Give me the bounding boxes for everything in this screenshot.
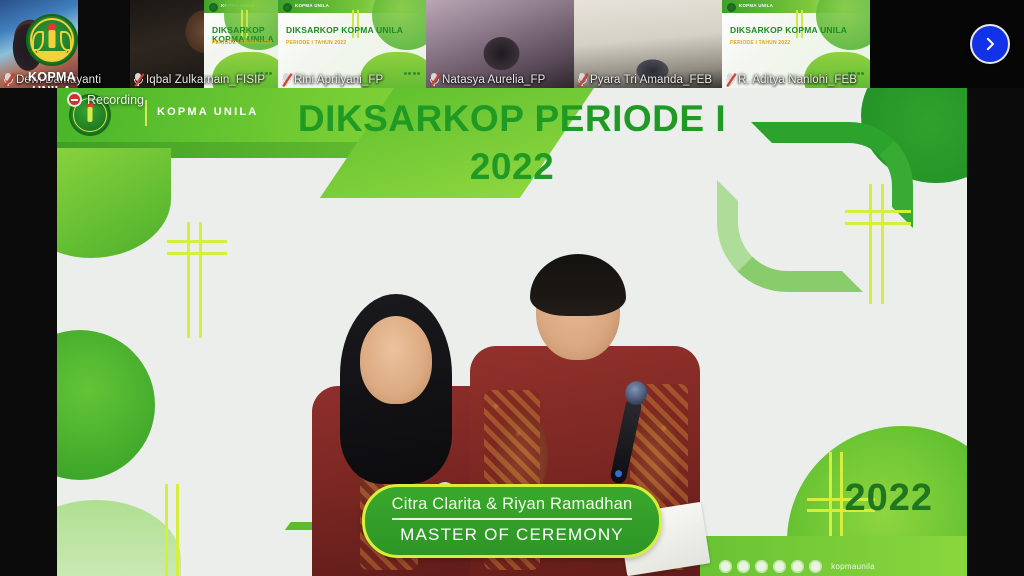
participant-name-label-1: Iqbal Zulkarnain_FISIP: [146, 74, 265, 86]
slide-headline-line-1: DIKSARKOP PERIODE I: [57, 96, 967, 142]
mic-muted-icon: [133, 73, 143, 86]
slide-year-mark: 2022: [844, 477, 933, 520]
mic-muted-icon: [281, 73, 291, 86]
mc-names-label: Citra Clarita & Riyan Ramadhan: [392, 495, 633, 520]
shared-screen-stage: KOPMA UNILA DIKSARKOP PERIODE I 2: [0, 88, 1024, 576]
email-icon: [809, 560, 822, 573]
recording-indicator[interactable]: Recording: [67, 92, 144, 107]
participant-thumbnail-strip: KOPMA UNILA Dewi Damayanti KOPMA UNILA D…: [0, 0, 1024, 88]
mic-muted-icon: [577, 73, 587, 86]
participant-name-label-2: Rini Aprilyani_FP: [294, 74, 383, 86]
mic-muted-icon: [3, 73, 13, 86]
decor-grid-left-top: [167, 222, 227, 338]
youtube-icon: [773, 560, 786, 573]
participant-tile-4[interactable]: Pyara Tri Amanda_FEB: [574, 0, 722, 88]
kopma-unila-seal-icon: [26, 14, 78, 66]
kopma-unila-branding: KOPMA UNILA: [16, 14, 88, 88]
slide-headline: DIKSARKOP PERIODE I 2022: [57, 96, 967, 192]
mc-name-banner: Citra Clarita & Riyan Ramadhan MASTER OF…: [362, 484, 662, 558]
instagram-icon: [737, 560, 750, 573]
participant-name-2: Rini Aprilyani_FP: [278, 73, 387, 86]
shared-presentation-slide[interactable]: KOPMA UNILA DIKSARKOP PERIODE I 2: [57, 88, 967, 576]
kopma-unila-label: KOPMA UNILA: [16, 70, 88, 88]
chevron-right-icon: [981, 35, 999, 53]
next-participants-page-button[interactable]: [970, 24, 1010, 64]
participant-name-label-5: R. Aditya Nanlohi_FEB: [738, 74, 857, 86]
slide-headline-line-2: 2022: [57, 142, 967, 192]
participant-name-4: Pyara Tri Amanda_FEB: [574, 73, 716, 86]
participant-tile-5[interactable]: KOPMA UNILA DIKSARKOP KOPMA UNILA PERIOD…: [722, 0, 870, 88]
participant-tile-0[interactable]: KOPMA UNILA Dewi Damayanti: [0, 0, 130, 88]
twitter-icon: [755, 560, 768, 573]
decor-blob-left-middle: [57, 330, 155, 480]
slide-social-handle: kopmaunila: [831, 562, 875, 571]
mc-role-label: MASTER OF CEREMONY: [381, 525, 643, 545]
zoom-meeting-window: KOPMA UNILA Dewi Damayanti KOPMA UNILA D…: [0, 0, 1024, 576]
mic-muted-icon: [429, 73, 439, 86]
participant-name-5: R. Aditya Nanlohi_FEB: [722, 73, 861, 86]
slide-social-icons: kopmaunila: [719, 560, 875, 573]
participant-tile-2[interactable]: KOPMA UNILA DIKSARKOP KOPMA UNILA PERIOD…: [278, 0, 426, 88]
participant-name-label-3: Natasya Aurelia_FP: [442, 74, 545, 86]
participant-name-3: Natasya Aurelia_FP: [426, 73, 549, 86]
mic-muted-icon: [725, 73, 735, 86]
participant-tile-3[interactable]: Natasya Aurelia_FP: [426, 0, 574, 88]
tiktok-icon: [791, 560, 804, 573]
participant-tile-1[interactable]: KOPMA UNILA DIKSARKOP KOPMA UNILA PERIOD…: [130, 0, 278, 88]
participant-name-label-4: Pyara Tri Amanda_FEB: [590, 74, 712, 86]
record-stop-icon: [67, 92, 82, 107]
participant-name-1: Iqbal Zulkarnain_FISIP: [130, 73, 269, 86]
recording-label: Recording: [87, 93, 144, 107]
